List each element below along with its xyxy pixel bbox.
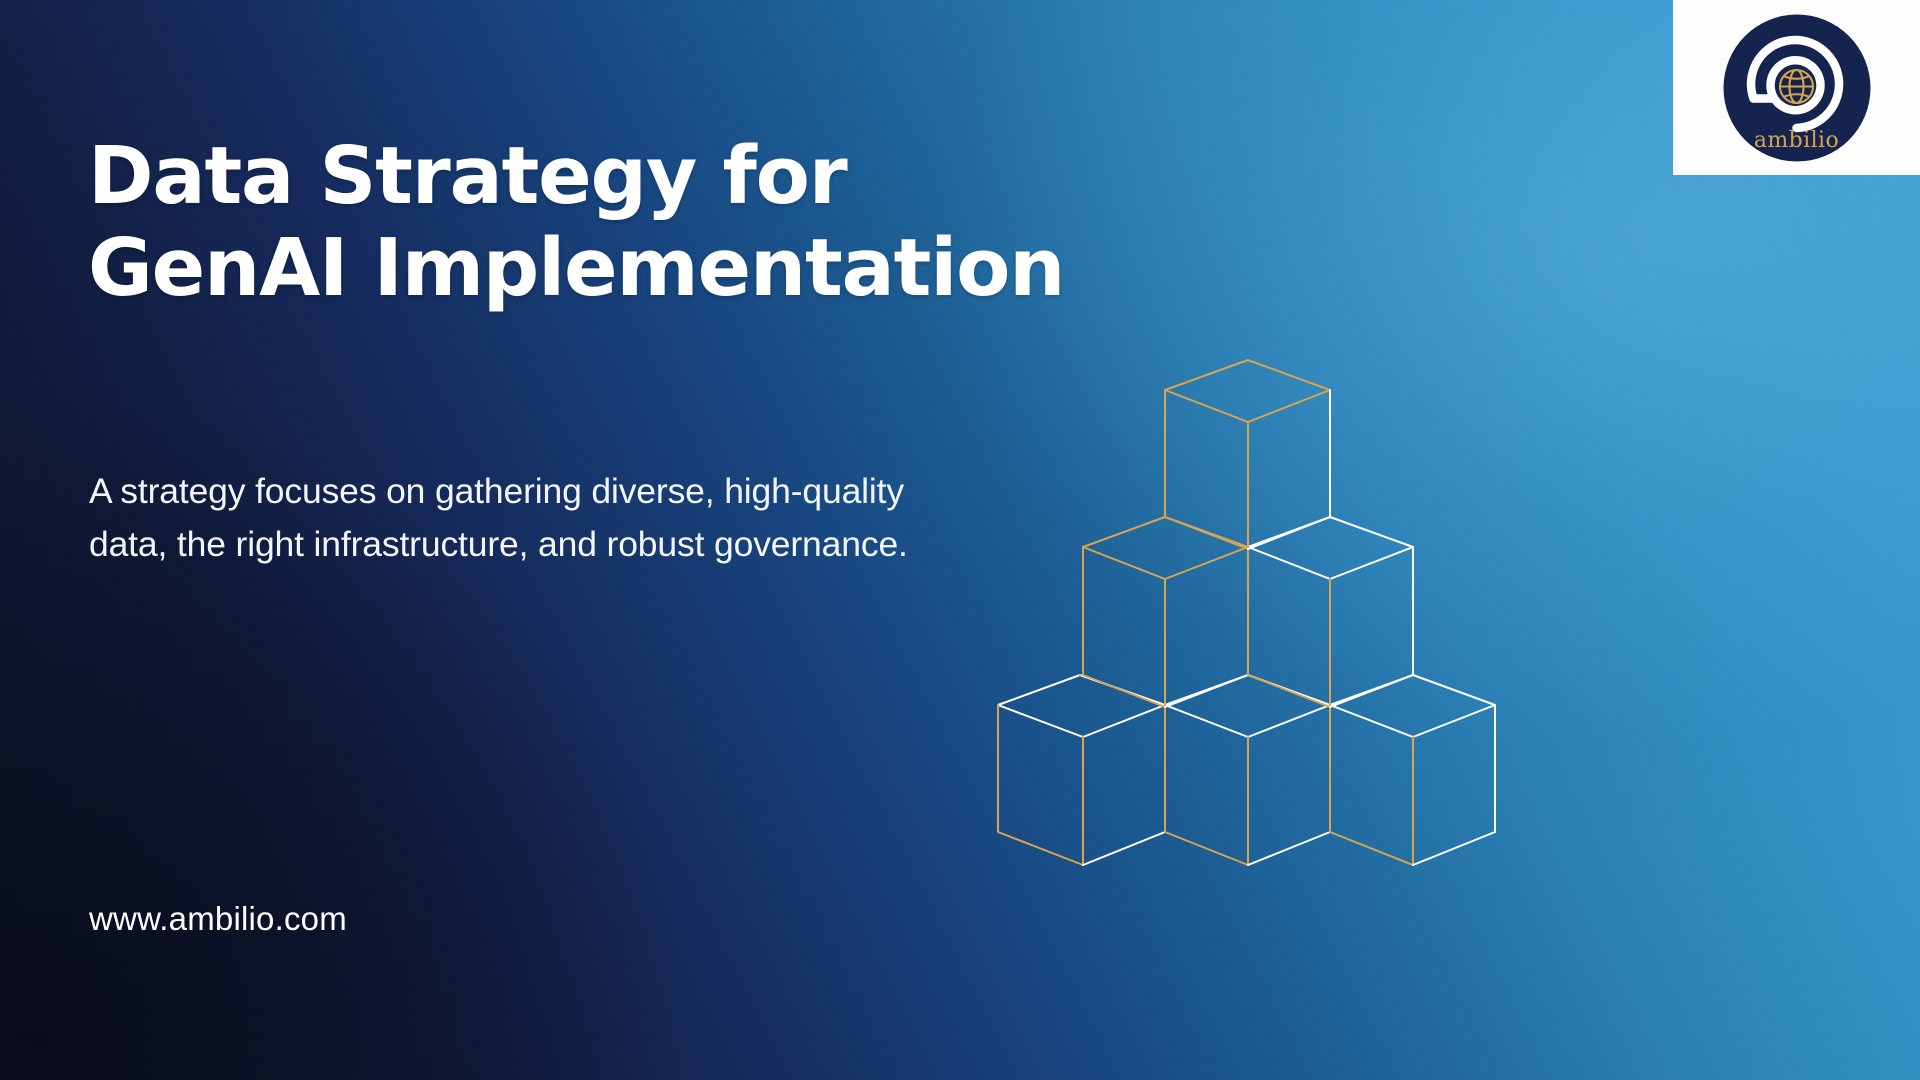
cube-bottom-right bbox=[1330, 675, 1495, 865]
isometric-wireframe-cube-pyramid bbox=[960, 380, 1520, 880]
website-url[interactable]: www.ambilio.com bbox=[89, 900, 347, 938]
banner-canvas: Data Strategy for GenAI Implementation A… bbox=[0, 0, 1920, 1080]
page-title: Data Strategy for GenAI Implementation bbox=[88, 131, 1168, 314]
logo-card[interactable]: ambilio bbox=[1673, 0, 1920, 175]
cube-top bbox=[1165, 360, 1330, 549]
cube-bottom-left bbox=[998, 675, 1165, 865]
logo-wordmark: ambilio bbox=[1673, 130, 1920, 152]
cube-middle-left bbox=[1083, 517, 1248, 707]
headline-line-1: Data Strategy for bbox=[88, 131, 1168, 223]
headline-line-2: GenAI Implementation bbox=[88, 223, 1168, 315]
cube-middle-right bbox=[1248, 517, 1413, 707]
cube-bottom-middle bbox=[1165, 675, 1330, 865]
